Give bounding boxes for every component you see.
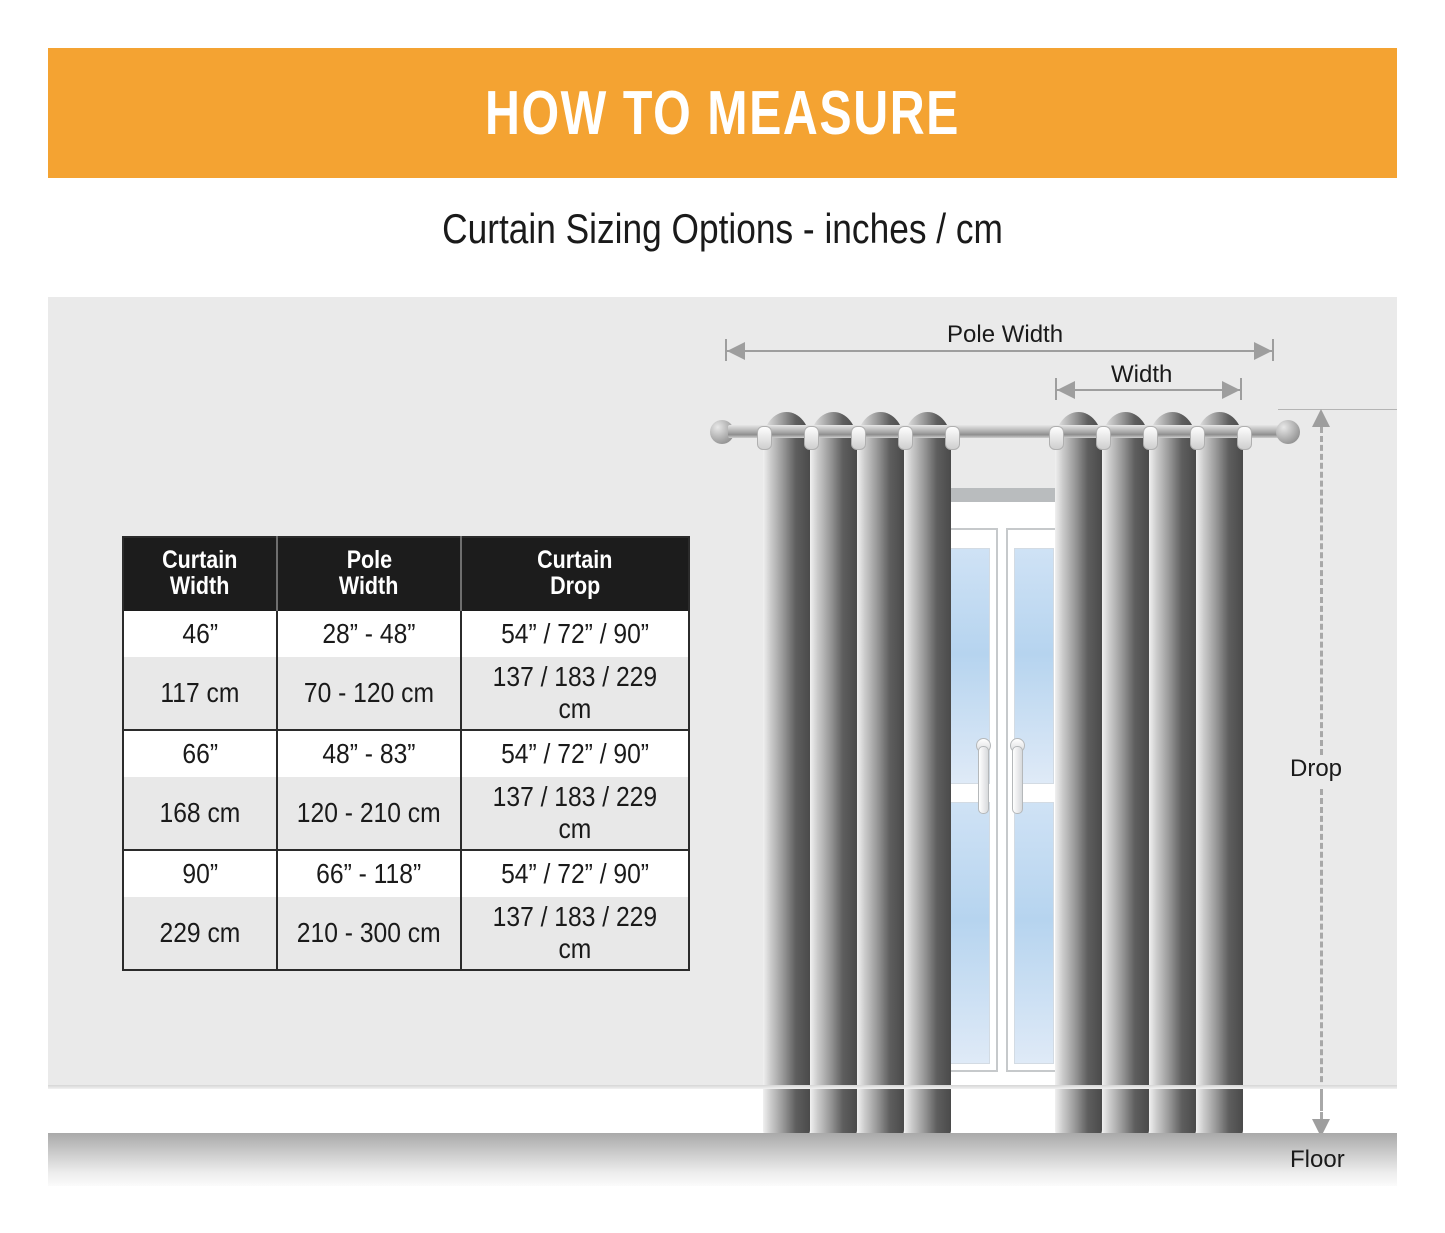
arrowhead-left-icon — [1057, 381, 1075, 399]
drop-dashed-line — [1320, 427, 1323, 755]
cell-value: 120 - 210 cm — [297, 797, 441, 829]
curtain-eyelet — [1049, 426, 1064, 450]
cell-curtain-width: 66” — [123, 730, 277, 777]
cell-curtain-drop: 54” / 72” / 90” — [461, 730, 689, 777]
drop-dashed-line — [1320, 789, 1323, 1127]
table-row: 46” 28” - 48” 54” / 72” / 90” — [123, 611, 689, 657]
table-row: 117 cm 70 - 120 cm 137 / 183 / 229 cm — [123, 657, 689, 730]
drop-label: Drop — [1290, 755, 1342, 783]
pole-width-label: Pole Width — [947, 321, 1063, 349]
cell-value: 117 cm — [160, 677, 239, 709]
floor-label: Floor — [1290, 1146, 1345, 1174]
cell-curtain-width: 117 cm — [123, 657, 277, 730]
curtain-fold — [857, 412, 904, 1130]
cell-pole-width: 66” - 118” — [277, 850, 461, 897]
cell-value: 46” — [182, 618, 218, 650]
cell-value: 137 / 183 / 229 cm — [481, 901, 669, 965]
page-title: HOW TO MEASURE — [485, 78, 960, 149]
header-line-2: Drop — [550, 574, 600, 600]
cell-value: 70 - 120 cm — [304, 677, 434, 709]
column-header-curtain-drop: Curtain Drop — [461, 537, 689, 611]
cell-pole-width: 210 - 300 cm — [277, 897, 461, 970]
curtain-sizing-table: Curtain Width Pole Width Curtain Drop 46… — [122, 536, 690, 971]
cell-value: 54” / 72” / 90” — [501, 858, 649, 890]
cell-value: 210 - 300 cm — [297, 917, 441, 949]
curtain-panel-left — [763, 412, 951, 1130]
cell-value: 66” - 118” — [317, 858, 422, 890]
cell-value: 54” / 72” / 90” — [501, 618, 649, 650]
pole-level-guide — [1278, 409, 1397, 410]
curtain-eyelet — [1190, 426, 1205, 450]
dimension-tick — [725, 339, 727, 361]
cell-curtain-drop: 137 / 183 / 229 cm — [461, 897, 689, 970]
dimension-tick — [1272, 339, 1274, 361]
curtain-eyelet — [851, 426, 866, 450]
cell-value: 54” / 72” / 90” — [501, 738, 649, 770]
window-graphic — [938, 488, 1068, 1086]
window-pane — [1014, 802, 1054, 1064]
width-label: Width — [1111, 361, 1172, 389]
arrowhead-right-icon — [1254, 342, 1272, 360]
cell-curtain-drop: 54” / 72” / 90” — [461, 611, 689, 657]
curtain-pole — [710, 412, 1300, 448]
window-pane — [950, 802, 990, 1064]
cell-value: 137 / 183 / 229 cm — [481, 661, 669, 725]
cell-value: 90” — [182, 858, 218, 890]
curtain-panel-right — [1055, 412, 1243, 1130]
column-header-pole-width: Pole Width — [277, 537, 461, 611]
header-line-1: Pole — [346, 548, 391, 574]
cell-value: 28” - 48” — [322, 618, 415, 650]
cell-pole-width: 48” - 83” — [277, 730, 461, 777]
arrowhead-right-icon — [1222, 381, 1240, 399]
arrowhead-up-icon — [1312, 409, 1330, 427]
cell-curtain-width: 229 cm — [123, 897, 277, 970]
curtain-fold — [1055, 412, 1102, 1130]
dimension-tick — [1055, 378, 1057, 400]
curtain-eyelet — [1096, 426, 1111, 450]
cell-curtain-drop: 137 / 183 / 229 cm — [461, 657, 689, 730]
window-handle — [978, 746, 989, 814]
curtain-eyelet — [1237, 426, 1252, 450]
header-line-2: Width — [170, 574, 230, 600]
curtain-eyelet — [757, 426, 772, 450]
cell-pole-width: 120 - 210 cm — [277, 777, 461, 850]
curtain-fold — [810, 412, 857, 1130]
curtain-fold — [1196, 412, 1243, 1130]
floor-band — [48, 1133, 1397, 1186]
pole-finial-right — [1276, 420, 1300, 444]
page-subtitle: Curtain Sizing Options - inches / cm — [116, 205, 1330, 253]
table-row: 229 cm 210 - 300 cm 137 / 183 / 229 cm — [123, 897, 689, 970]
width-line — [1057, 389, 1240, 391]
header-line-1: Curtain — [538, 548, 613, 574]
dimension-tick — [1240, 378, 1242, 400]
cell-curtain-drop: 54” / 72” / 90” — [461, 850, 689, 897]
cell-curtain-width: 168 cm — [123, 777, 277, 850]
curtain-eyelet — [898, 426, 913, 450]
curtain-eyelet — [945, 426, 960, 450]
arrowhead-left-icon — [727, 342, 745, 360]
cell-pole-width: 28” - 48” — [277, 611, 461, 657]
cell-value: 66” — [182, 738, 218, 770]
cell-curtain-width: 90” — [123, 850, 277, 897]
curtain-fold — [904, 412, 951, 1130]
cell-value: 137 / 183 / 229 cm — [481, 781, 669, 845]
header-line-2: Width — [339, 574, 399, 600]
header-banner: HOW TO MEASURE — [48, 48, 1397, 178]
curtain-fold — [763, 412, 810, 1130]
cell-curtain-width: 46” — [123, 611, 277, 657]
curtain-fold — [1149, 412, 1196, 1130]
table-row: 168 cm 120 - 210 cm 137 / 183 / 229 cm — [123, 777, 689, 850]
header-line-1: Curtain — [162, 548, 237, 574]
table-row: 90” 66” - 118” 54” / 72” / 90” — [123, 850, 689, 897]
table-header-row: Curtain Width Pole Width Curtain Drop — [123, 537, 689, 611]
cell-curtain-drop: 137 / 183 / 229 cm — [461, 777, 689, 850]
pole-width-line — [727, 350, 1272, 352]
curtain-fold — [1102, 412, 1149, 1130]
table-row: 66” 48” - 83” 54” / 72” / 90” — [123, 730, 689, 777]
cell-value: 168 cm — [159, 797, 240, 829]
cell-value: 48” - 83” — [322, 738, 415, 770]
cell-pole-width: 70 - 120 cm — [277, 657, 461, 730]
cell-value: 229 cm — [159, 917, 240, 949]
window-handle — [1012, 746, 1023, 814]
drop-dashed-line — [1320, 1089, 1323, 1119]
column-header-curtain-width: Curtain Width — [123, 537, 277, 611]
curtain-eyelet — [804, 426, 819, 450]
curtain-eyelet — [1143, 426, 1158, 450]
skirting-board — [48, 1085, 1397, 1089]
window-lintel — [938, 488, 1068, 502]
